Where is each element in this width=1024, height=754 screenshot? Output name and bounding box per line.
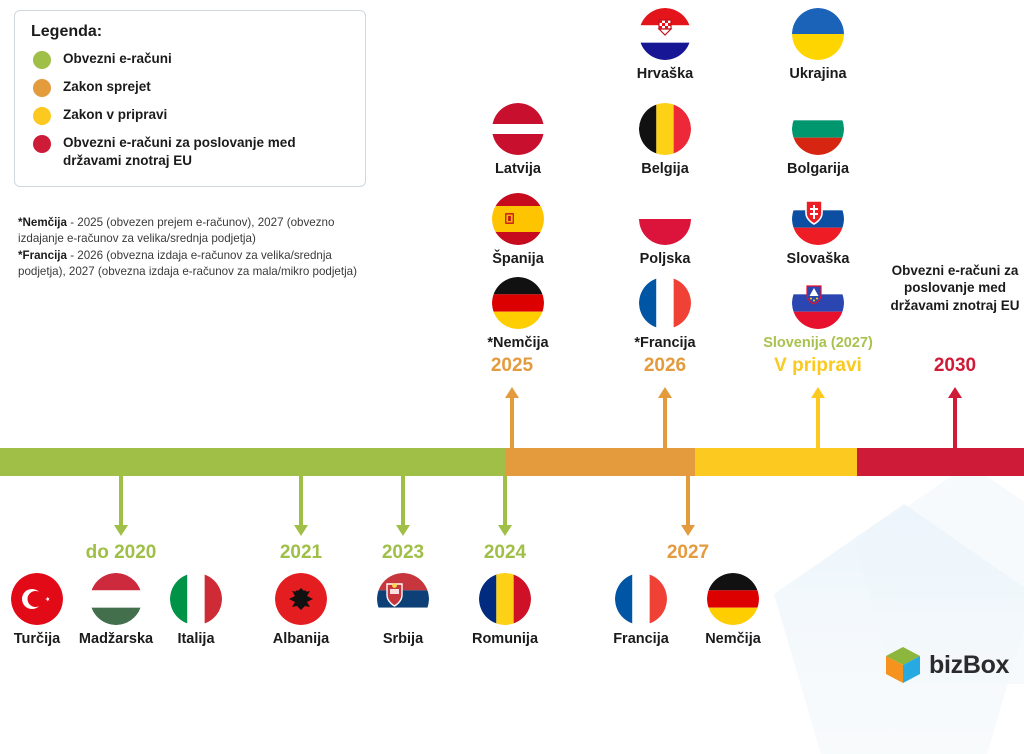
timeline-segment-med-drzavami-eu [857,448,1024,476]
footnotes: *Nemčija - 2025 (obvezen prejem e-računo… [18,215,378,281]
marker-2024-label: 2024 [435,542,575,564]
marker-2025-arrow [505,387,519,448]
country-label: Slovenija (2027) [763,335,873,351]
marker-2030-arrow [948,387,962,448]
country-label: Bolgarija [763,161,873,177]
country-label: Srbija [348,631,458,647]
country-nemcija-bottom: Nemčija [678,573,788,647]
legend-color-dot [33,79,51,97]
arrow-shaft [299,476,303,525]
country-latvija: Latvija [463,103,573,177]
country-label: Ukrajina [763,66,873,82]
footnote-francija-bold: *Francija [18,249,67,262]
flag-es-icon [492,193,544,245]
infographic-canvas: Legenda: Obvezni e-računiZakon sprejetZa… [0,0,1024,724]
flag-hr-icon [639,8,691,60]
eu-requirement-text: Obvezni e-računi za poslovanje med držav… [875,262,1024,314]
bizbox-wordmark: bizBox [929,651,1009,680]
footnote-nemcija-bold: *Nemčija [18,216,67,229]
legend-item-label: Zakon v pripravi [63,106,167,124]
arrow-shaft [686,476,690,525]
country-label: Belgija [610,161,720,177]
marker-2027-label: 2027 [618,542,758,564]
country-label: Romunija [450,631,560,647]
flag-fr-icon [639,277,691,329]
flag-al-icon [275,573,327,625]
country-albanija: Albanija [246,573,356,647]
legend-panel: Legenda: Obvezni e-računiZakon sprejetZa… [14,10,366,187]
flag-pl-icon [639,193,691,245]
legend-color-dot [33,135,51,153]
arrow-head-icon [681,525,695,536]
country-romunija: Romunija [450,573,560,647]
flag-si-icon [792,277,844,329]
arrow-shaft [816,393,820,448]
flag-ua-icon [792,8,844,60]
country-hrvaska: Hrvaška [610,8,720,82]
legend-item-3: Zakon v pripravi [29,106,351,125]
flag-de-icon [492,277,544,329]
country-srbija: Srbija [348,573,458,647]
legend-item-1: Obvezni e-računi [29,50,351,69]
country-italija: Italija [141,573,251,647]
legend-color-dot [33,107,51,125]
country-label: Hrvaška [610,66,720,82]
footnote-francija-text: - 2026 (obvezna izdaja e-računov za veli… [18,249,357,278]
arrow-head-icon [114,525,128,536]
flag-be-icon [639,103,691,155]
flag-de-icon [707,573,759,625]
country-label: Poljska [610,251,720,267]
marker-do-2020-label: do 2020 [51,542,191,564]
arrow-head-icon [498,525,512,536]
footnote-francija: *Francija - 2026 (obvezna izdaja e-račun… [18,248,378,281]
country-label: Italija [141,631,251,647]
country-poljska: Poljska [610,193,720,267]
country-label: Slovaška [763,251,873,267]
arrow-shaft [510,393,514,448]
arrow-head-icon [396,525,410,536]
marker-2026-label: 2026 [595,355,735,377]
marker-2025-label: 2025 [442,355,582,377]
country-label: *Nemčija [463,335,573,351]
country-ukrajina: Ukrajina [763,8,873,82]
country-slovenija: Slovenija (2027) [763,277,873,351]
arrow-shaft [503,476,507,525]
marker-v-pripravi-label: V pripravi [748,355,888,377]
marker-do-2020-arrow [114,476,128,536]
legend-title: Legenda: [31,23,351,41]
arrow-shaft [953,393,957,448]
flag-bg-icon [792,103,844,155]
flag-lv-icon [492,103,544,155]
timeline-segment-zakon-sprejet [505,448,695,476]
country-belgija: Belgija [610,103,720,177]
marker-2023-arrow [396,476,410,536]
country-francija-top: *Francija [610,277,720,351]
legend-item-label: Obvezni e-računi za poslovanje med držav… [63,134,351,170]
country-label: Albanija [246,631,356,647]
footnote-nemcija: *Nemčija - 2025 (obvezen prejem e-računo… [18,215,378,248]
legend-item-label: Zakon sprejet [63,78,151,96]
country-spanija: Španija [463,193,573,267]
arrow-shaft [401,476,405,525]
flag-hu-icon [90,573,142,625]
marker-2021-arrow [294,476,308,536]
timeline-bar [0,448,1024,476]
bizbox-cube-icon [884,645,922,685]
marker-2030-label: 2030 [885,355,1024,377]
country-label: Španija [463,251,573,267]
flag-fr-icon [615,573,667,625]
country-slovaska: Slovaška [763,193,873,267]
flag-sk-icon [792,193,844,245]
flag-tr-icon [11,573,63,625]
legend-item-2: Zakon sprejet [29,78,351,97]
bizbox-logo: bizBox [884,645,1009,685]
eu-requirement-label: Obvezni e-računi za poslovanje med držav… [890,263,1019,313]
flag-it-icon [170,573,222,625]
marker-v-pripravi-arrow [811,387,825,448]
legend-item-4: Obvezni e-računi za poslovanje med držav… [29,134,351,170]
country-label: *Francija [610,335,720,351]
legend-item-label: Obvezni e-računi [63,50,172,68]
flag-rs-icon [377,573,429,625]
timeline-segment-obvezni-e-racuni [0,448,505,476]
timeline-segment-zakon-v-pripravi [695,448,857,476]
arrow-shaft [663,393,667,448]
arrow-head-icon [294,525,308,536]
country-label: Latvija [463,161,573,177]
marker-2026-arrow [658,387,672,448]
marker-2024-arrow [498,476,512,536]
country-label: Nemčija [678,631,788,647]
country-nemcija-top: *Nemčija [463,277,573,351]
legend-color-dot [33,51,51,69]
arrow-shaft [119,476,123,525]
country-bolgarija: Bolgarija [763,103,873,177]
flag-ro-icon [479,573,531,625]
marker-2027-arrow [681,476,695,536]
